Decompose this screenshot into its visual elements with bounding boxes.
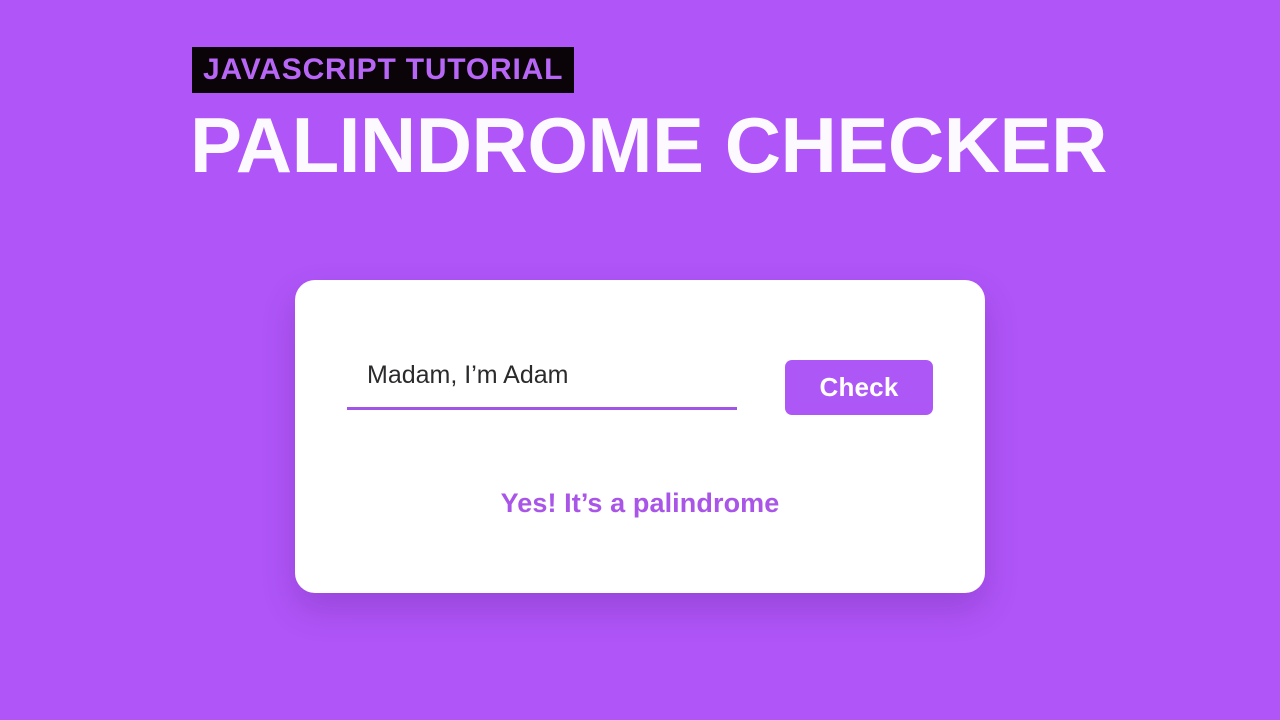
page-title: PALINDROME CHECKER (190, 106, 1107, 184)
palindrome-checker-card: Check Yes! It’s a palindrome (295, 280, 985, 593)
tutorial-badge: JAVASCRIPT TUTORIAL (192, 47, 574, 93)
check-button[interactable]: Check (785, 360, 933, 415)
tutorial-badge-label: JAVASCRIPT TUTORIAL (203, 55, 563, 85)
result-message: Yes! It’s a palindrome (295, 488, 985, 519)
palindrome-input[interactable] (347, 352, 737, 410)
app-root: JAVASCRIPT TUTORIAL PALINDROME CHECKER C… (0, 0, 1280, 720)
